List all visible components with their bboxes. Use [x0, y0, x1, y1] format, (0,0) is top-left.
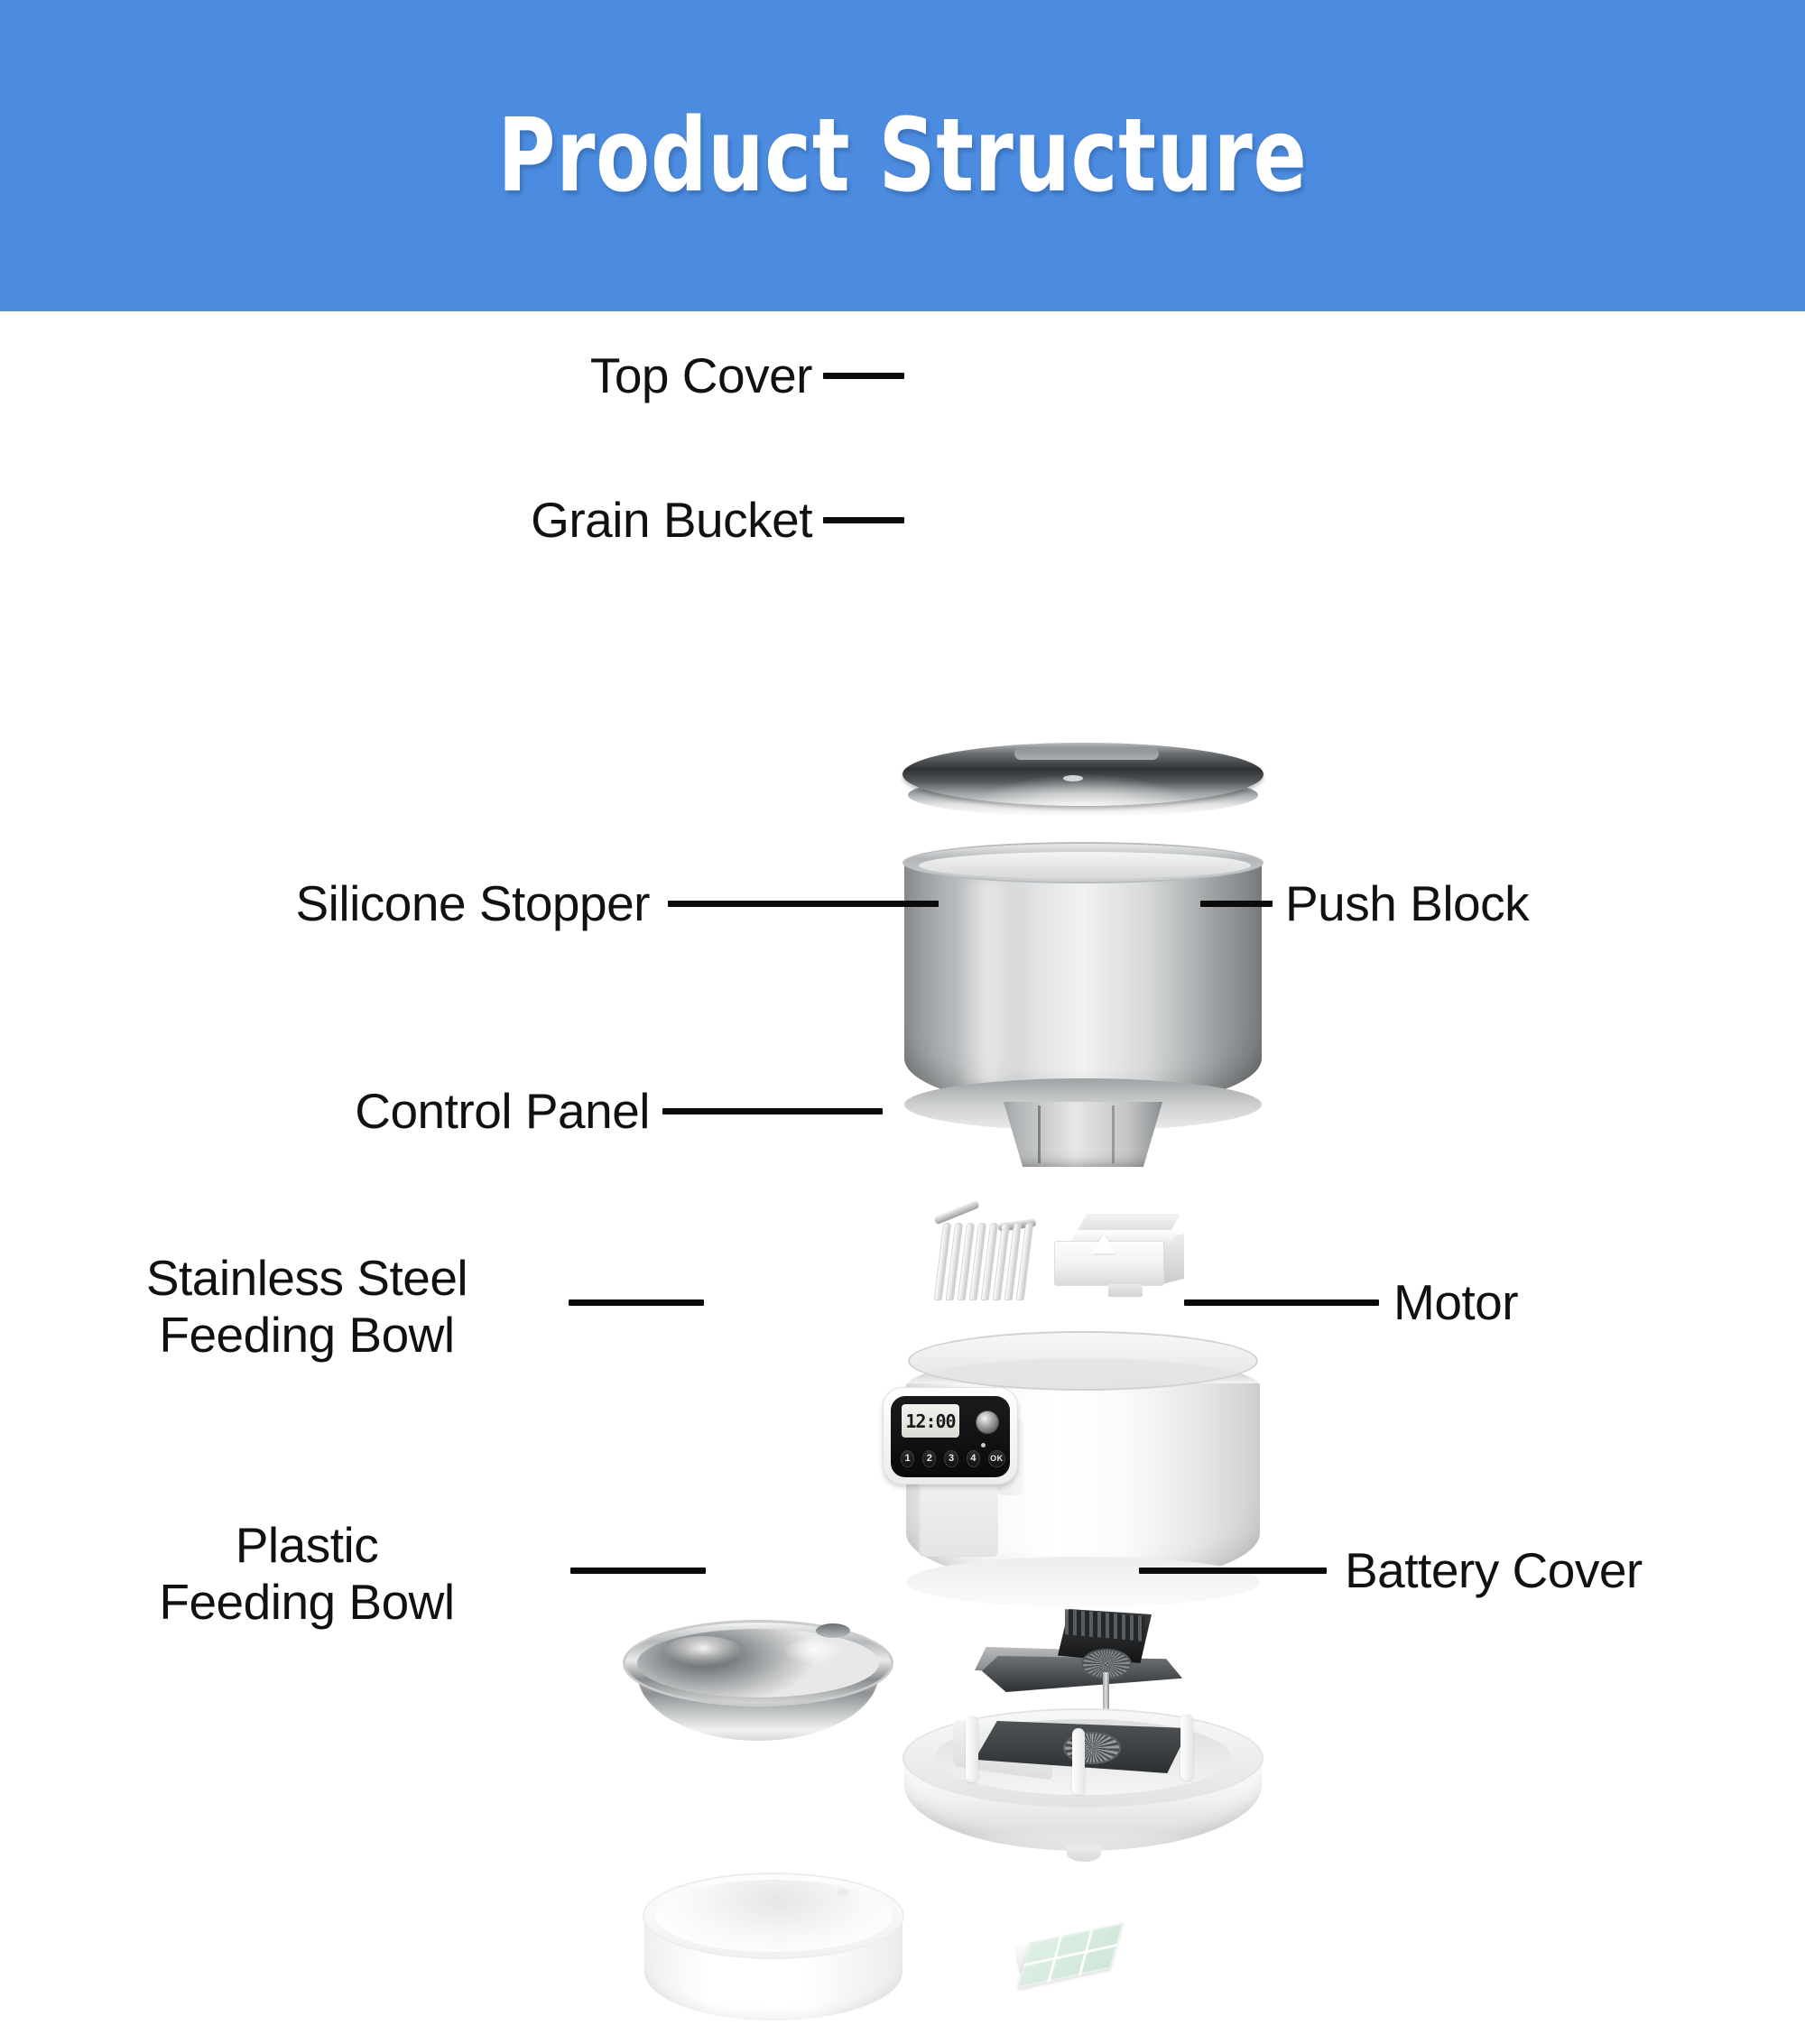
- label-steel-bowl-line2: Feeding Bowl: [54, 1307, 560, 1364]
- silicone-stopper-pin: [933, 1200, 980, 1225]
- label-grain-bucket: Grain Bucket: [235, 492, 812, 549]
- grain-bucket-highlight: [957, 878, 1020, 1086]
- leader-line-steel-bowl: [569, 1299, 704, 1306]
- part-top-cover: [902, 743, 1263, 822]
- label-plastic-bowl-line1: Plastic: [54, 1517, 560, 1574]
- label-control-panel: Control Panel: [144, 1083, 650, 1140]
- key-3[interactable]: 3: [944, 1450, 958, 1467]
- main-body-base: [906, 1557, 1260, 1607]
- label-plastic-bowl-line2: Feeding Bowl: [54, 1574, 560, 1631]
- part-base-housing: [902, 1708, 1263, 1889]
- grain-bucket-funnel-seam: [1038, 1105, 1041, 1163]
- part-main-body: 12:00 1 2 3 4 OK: [902, 1331, 1263, 1629]
- grain-bucket-funnel-seam-2: [1112, 1105, 1115, 1163]
- base-housing-foot: [1067, 1845, 1101, 1862]
- steel-bowl-notch: [816, 1623, 850, 1638]
- steel-bowl-highlight-2: [783, 1640, 843, 1665]
- part-plastic-feeding-bowl: [643, 1873, 904, 2044]
- part-grain-bucket: [902, 842, 1263, 1167]
- top-cover-slot: [1014, 747, 1159, 760]
- key-1[interactable]: 1: [901, 1450, 914, 1467]
- label-steel-bowl-line1: Stainless Steel: [54, 1250, 560, 1307]
- part-stainless-steel-feeding-bowl: [623, 1620, 893, 1755]
- part-battery-cover: [1018, 1927, 1126, 1990]
- steel-bowl-interior: [637, 1629, 879, 1697]
- push-block-foot: [1108, 1284, 1143, 1297]
- page-title: Product Structure: [497, 97, 1307, 215]
- leader-line-motor: [1184, 1299, 1379, 1306]
- base-housing-post: [966, 1716, 978, 1782]
- leader-line-push-block: [1200, 901, 1273, 907]
- lcd-display: 12:00: [902, 1404, 959, 1438]
- key-2[interactable]: 2: [922, 1450, 936, 1467]
- base-housing-post: [1072, 1728, 1085, 1795]
- plastic-bowl-highlight: [838, 1889, 848, 1896]
- label-silicone-stopper: Silicone Stopper: [90, 875, 650, 932]
- part-control-panel[interactable]: 12:00 1 2 3 4 OK: [883, 1387, 1018, 1484]
- plastic-bowl-interior: [655, 1880, 892, 1952]
- leader-line-silicone-stopper: [668, 901, 939, 907]
- leader-line-battery-cover: [1139, 1568, 1327, 1574]
- grain-bucket-lip: [902, 842, 1263, 883]
- label-top-cover: Top Cover: [343, 347, 812, 404]
- label-motor: Motor: [1393, 1274, 1773, 1331]
- leader-line-control-panel: [662, 1108, 883, 1114]
- leader-line-grain-bucket: [823, 517, 904, 523]
- label-push-block: Push Block: [1285, 875, 1754, 932]
- battery-cover-ribs: [1017, 1922, 1124, 1988]
- top-cover-highlight: [1063, 775, 1083, 782]
- main-body-opening: [908, 1331, 1258, 1391]
- key-ok[interactable]: OK: [988, 1450, 1005, 1467]
- page-header: Product Structure: [0, 0, 1805, 311]
- label-battery-cover: Battery Cover: [1345, 1542, 1778, 1599]
- steel-bowl-highlight: [664, 1636, 742, 1667]
- control-panel-face: 12:00 1 2 3 4 OK: [891, 1396, 1010, 1477]
- exploded-diagram: Top Cover Grain Bucket Silicone Stopper: [0, 311, 1805, 1805]
- record-knob-icon[interactable]: [976, 1410, 999, 1434]
- part-silicone-stopper: [939, 1214, 1047, 1304]
- leader-line-top-cover: [823, 373, 904, 379]
- part-push-block: [1054, 1214, 1186, 1299]
- silicone-stopper-fins: [934, 1223, 1038, 1300]
- key-4[interactable]: 4: [967, 1450, 980, 1467]
- base-housing-post: [1180, 1714, 1193, 1780]
- grain-bucket-opening: [919, 852, 1251, 879]
- control-panel-keypad: 1 2 3 4 OK: [901, 1445, 1005, 1472]
- leader-line-plastic-bowl: [570, 1568, 706, 1574]
- grain-bucket-funnel: [1004, 1102, 1162, 1167]
- lcd-time-value: 12:00: [905, 1410, 955, 1432]
- push-block-wedge: [1092, 1234, 1115, 1253]
